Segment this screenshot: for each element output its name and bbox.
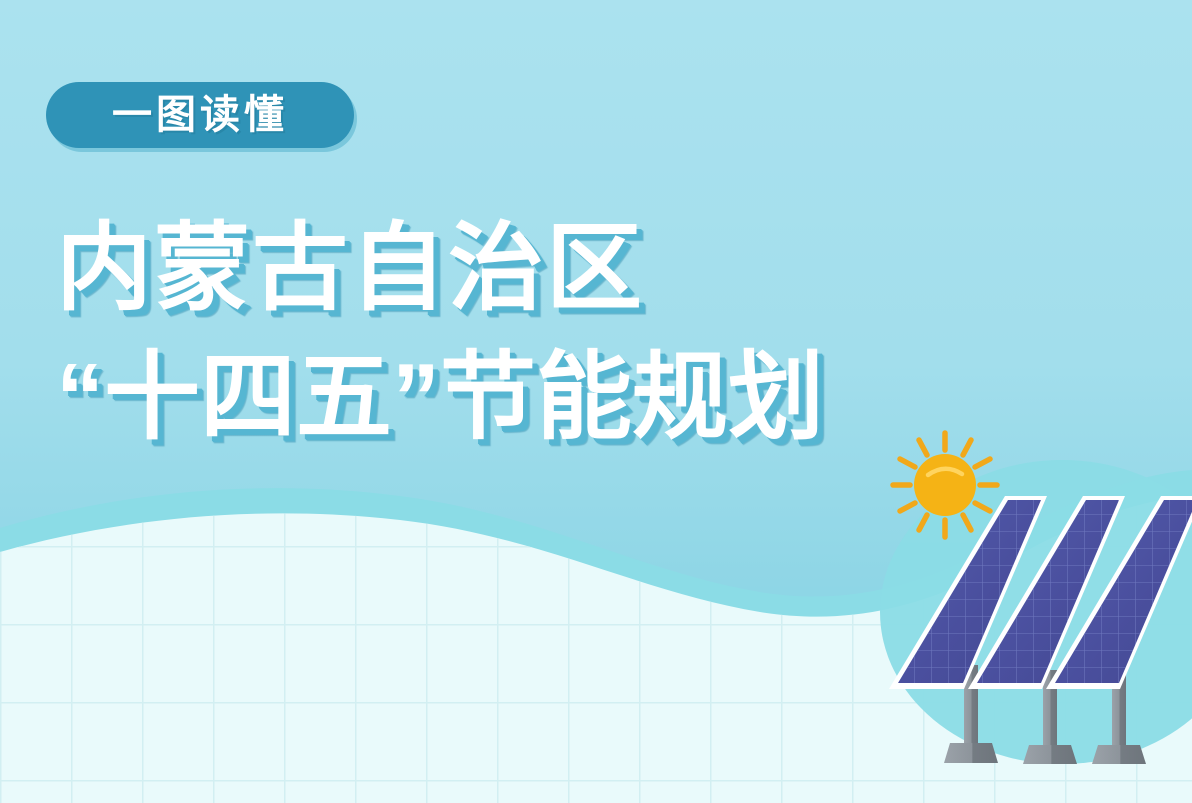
page-title: 内蒙古自治区 “十四五”节能规划	[56, 212, 956, 455]
panel-3-base	[1092, 745, 1146, 764]
infographic-poster: 一图读懂 内蒙古自治区 “十四五”节能规划	[0, 0, 1192, 803]
panel-1-base	[944, 743, 998, 763]
panel-2-base	[1023, 745, 1077, 764]
badge-label: 一图读懂	[112, 95, 288, 135]
title-line-region: 内蒙古自治区	[56, 212, 956, 325]
read-in-one-image-badge[interactable]: 一图读懂	[46, 82, 354, 148]
solar-panel-icon	[880, 480, 1192, 803]
title-line-plan: “十四五”节能规划	[56, 341, 956, 454]
